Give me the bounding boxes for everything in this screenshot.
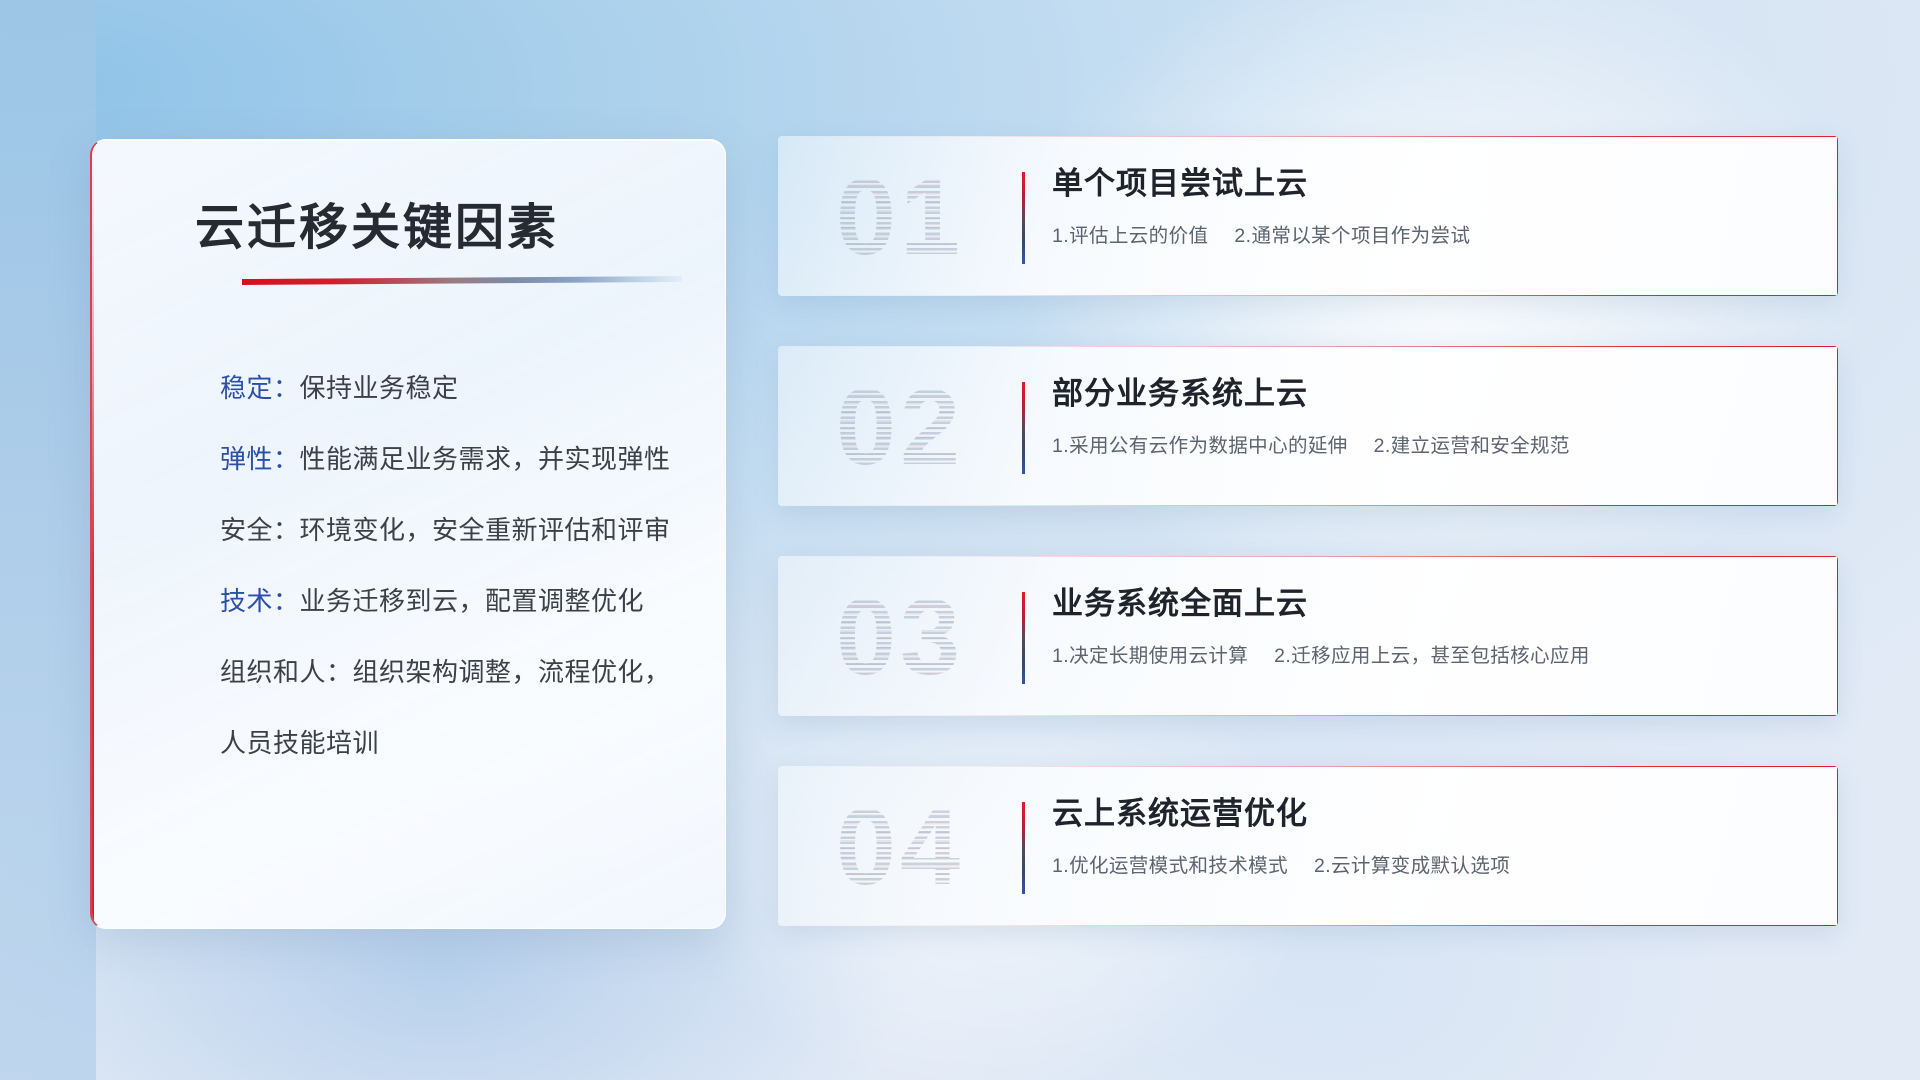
key-factor-value: 性能满足业务需求，并实现弹性 [300, 446, 671, 472]
key-factor-label: 稳定： [220, 375, 300, 401]
key-factor-label: 组织和人： [220, 659, 353, 685]
cloud-migration-stages: 0101单个项目尝试上云1.评估上云的价值2.通常以某个项目作为尝试0202部分… [778, 136, 1838, 976]
key-factor-label: 弹性： [220, 446, 300, 472]
stage-points: 1.决定长期使用云计算2.迁移应用上云，甚至包括核心应用 [1052, 639, 1810, 668]
key-factor-row: 组织和人：组织架构调整，流程优化， [220, 659, 685, 685]
stage-number: 03 [800, 564, 1000, 708]
key-factor-row: 人员技能培训 [220, 730, 685, 756]
stage-divider-bar [1022, 592, 1025, 684]
key-factor-value: 业务迁移到云，配置调整优化 [300, 588, 645, 614]
stage-text-block: 单个项目尝试上云1.评估上云的价值2.通常以某个项目作为尝试 [1052, 166, 1810, 248]
key-factors-list: 稳定：保持业务稳定弹性：性能满足业务需求，并实现弹性安全：环境变化，安全重新评估… [220, 375, 685, 756]
stage-divider-bar [1022, 382, 1025, 474]
key-factor-value: 环境变化，安全重新评估和评审 [300, 517, 671, 543]
stage-points: 1.评估上云的价值2.通常以某个项目作为尝试 [1052, 219, 1810, 248]
page-title: 云迁移关键因素 [195, 188, 559, 259]
stage-point-1: 1.评估上云的价值 [1052, 225, 1208, 247]
key-factor-row: 弹性：性能满足业务需求，并实现弹性 [220, 446, 685, 472]
stage-text-block: 业务系统全面上云1.决定长期使用云计算2.迁移应用上云，甚至包括核心应用 [1052, 586, 1810, 668]
stage-title: 单个项目尝试上云 [1052, 166, 1810, 203]
stage-title: 部分业务系统上云 [1052, 376, 1810, 413]
key-factor-value: 人员技能培训 [220, 730, 379, 756]
stage-card[interactable]: 0202部分业务系统上云1.采用公有云作为数据中心的延伸2.建立运营和安全规范 [778, 346, 1838, 506]
key-factor-value: 组织架构调整，流程优化， [353, 659, 671, 685]
key-factor-value: 保持业务稳定 [300, 375, 459, 401]
stage-title: 云上系统运营优化 [1052, 796, 1810, 833]
stage-divider-bar [1022, 802, 1025, 894]
stage-points: 1.采用公有云作为数据中心的延伸2.建立运营和安全规范 [1052, 429, 1810, 458]
stage-points: 1.优化运营模式和技术模式2.云计算变成默认选项 [1052, 849, 1810, 878]
key-factors-panel: 云迁移关键因素 稳定：保持业务稳定弹性：性能满足业务需求，并实现弹性安全：环境变… [90, 139, 726, 929]
stage-point-1: 1.优化运营模式和技术模式 [1052, 855, 1288, 877]
stage-number: 04 [800, 774, 1000, 918]
key-factor-label: 技术： [220, 588, 300, 614]
stage-point-1: 1.采用公有云作为数据中心的延伸 [1052, 435, 1348, 457]
stage-point-1: 1.决定长期使用云计算 [1052, 645, 1248, 667]
stage-title: 业务系统全面上云 [1052, 586, 1810, 623]
stage-point-2: 2.建立运营和安全规范 [1374, 435, 1570, 457]
stage-point-2: 2.通常以某个项目作为尝试 [1234, 225, 1470, 247]
slide-stage: 云迁移关键因素 稳定：保持业务稳定弹性：性能满足业务需求，并实现弹性安全：环境变… [0, 0, 1920, 1080]
stage-point-2: 2.云计算变成默认选项 [1314, 855, 1510, 877]
stage-number: 02 [800, 354, 1000, 498]
stage-number: 01 [800, 144, 1000, 288]
key-factor-label: 安全： [220, 517, 300, 543]
stage-point-2: 2.迁移应用上云，甚至包括核心应用 [1274, 645, 1590, 667]
key-factor-row: 技术：业务迁移到云，配置调整优化 [220, 588, 685, 614]
key-factor-row: 安全：环境变化，安全重新评估和评审 [220, 517, 685, 543]
stage-text-block: 云上系统运营优化1.优化运营模式和技术模式2.云计算变成默认选项 [1052, 796, 1810, 878]
stage-text-block: 部分业务系统上云1.采用公有云作为数据中心的延伸2.建立运营和安全规范 [1052, 376, 1810, 458]
stage-divider-bar [1022, 172, 1025, 264]
stage-card[interactable]: 0404云上系统运营优化1.优化运营模式和技术模式2.云计算变成默认选项 [778, 766, 1838, 926]
title-underline-accent [242, 276, 682, 285]
stage-card[interactable]: 0303业务系统全面上云1.决定长期使用云计算2.迁移应用上云，甚至包括核心应用 [778, 556, 1838, 716]
stage-card[interactable]: 0101单个项目尝试上云1.评估上云的价值2.通常以某个项目作为尝试 [778, 136, 1838, 296]
key-factor-row: 稳定：保持业务稳定 [220, 375, 685, 401]
